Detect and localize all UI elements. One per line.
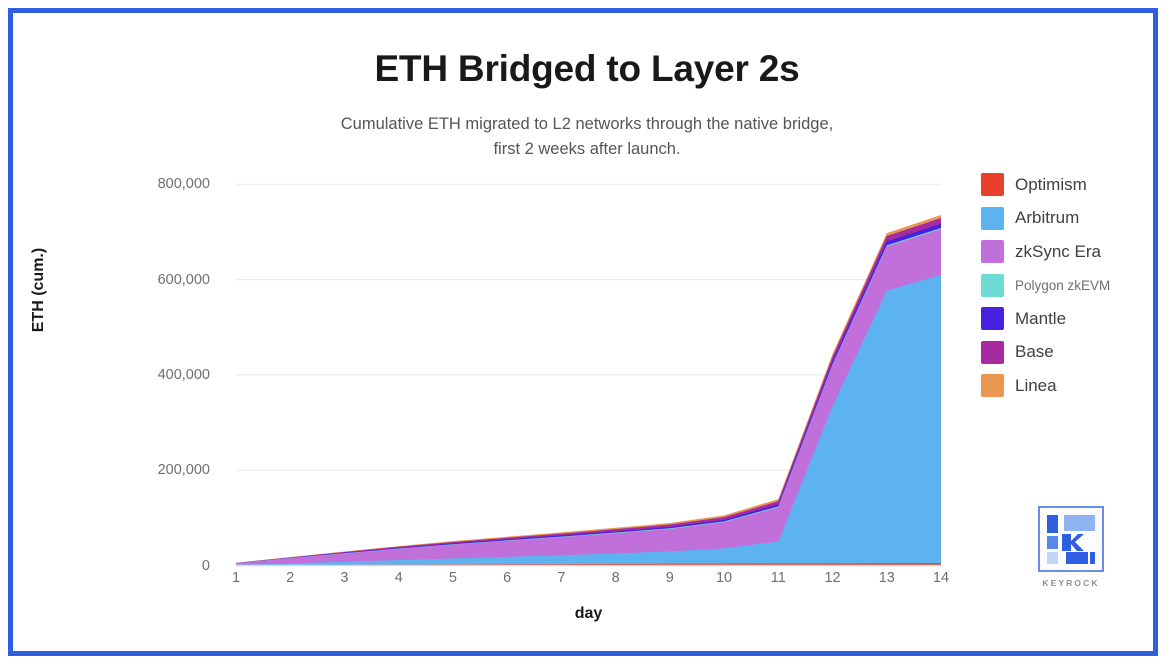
legend-label: Mantle: [1015, 309, 1066, 329]
x-axis-tick-label: 8: [596, 570, 636, 586]
keyrock-logo: KEYROCK: [1032, 506, 1110, 588]
keyrock-logo-mark: [1038, 506, 1104, 572]
x-axis-tick-label: 5: [433, 570, 473, 586]
legend-item-optimism[interactable]: Optimism: [981, 168, 1156, 202]
legend-swatch-icon: [981, 374, 1004, 397]
x-axis-tick-label: 2: [270, 570, 310, 586]
legend-label: Arbitrum: [1015, 208, 1079, 228]
x-axis-tick-label: 6: [487, 570, 527, 586]
legend-item-zksync-era[interactable]: zkSync Era: [981, 235, 1156, 269]
legend-swatch-icon: [981, 341, 1004, 364]
chart-legend: OptimismArbitrumzkSync EraPolygon zkEVMM…: [981, 168, 1156, 403]
legend-swatch-icon: [981, 173, 1004, 196]
keyrock-logo-icon: [1040, 508, 1102, 570]
keyrock-logo-text: KEYROCK: [1032, 578, 1110, 588]
x-axis-tick-label: 4: [379, 570, 419, 586]
legend-swatch-icon: [981, 207, 1004, 230]
x-axis-tick-label: 7: [541, 570, 581, 586]
y-axis-tick-label: 800,000: [118, 176, 210, 192]
y-axis-label: ETH (cum.): [30, 200, 48, 380]
x-axis-tick-label: 1: [216, 570, 256, 586]
legend-label: zkSync Era: [1015, 242, 1101, 262]
x-axis-tick-label: 14: [921, 570, 961, 586]
legend-swatch-icon: [981, 307, 1004, 330]
legend-label: Base: [1015, 342, 1054, 362]
area-series-arbitrum: [236, 275, 941, 566]
x-axis-label: day: [236, 605, 941, 623]
legend-label: Linea: [1015, 376, 1057, 396]
legend-swatch-icon: [981, 274, 1004, 297]
x-axis-tick-label: 9: [650, 570, 690, 586]
x-axis-tick-label: 13: [867, 570, 907, 586]
y-axis-tick-label: 0: [118, 558, 210, 574]
legend-swatch-icon: [981, 240, 1004, 263]
legend-label: Polygon zkEVM: [1015, 278, 1110, 293]
chart-series-areas: [236, 215, 941, 565]
y-axis-tick-label: 200,000: [118, 462, 210, 478]
legend-item-base[interactable]: Base: [981, 336, 1156, 370]
y-axis-tick-label: 400,000: [118, 367, 210, 383]
x-axis-tick-label: 12: [813, 570, 853, 586]
legend-item-arbitrum[interactable]: Arbitrum: [981, 202, 1156, 236]
x-axis-tick-label: 3: [324, 570, 364, 586]
x-axis-tick-label: 10: [704, 570, 744, 586]
legend-item-mantle[interactable]: Mantle: [981, 302, 1156, 336]
legend-label: Optimism: [1015, 175, 1087, 195]
legend-item-polygon-zkevm[interactable]: Polygon zkEVM: [981, 269, 1156, 303]
x-axis-tick-label: 11: [758, 570, 798, 586]
y-axis-tick-label: 600,000: [118, 272, 210, 288]
y-axis-ticks: 0200,000400,000600,000800,000: [118, 0, 210, 670]
legend-item-linea[interactable]: Linea: [981, 369, 1156, 403]
